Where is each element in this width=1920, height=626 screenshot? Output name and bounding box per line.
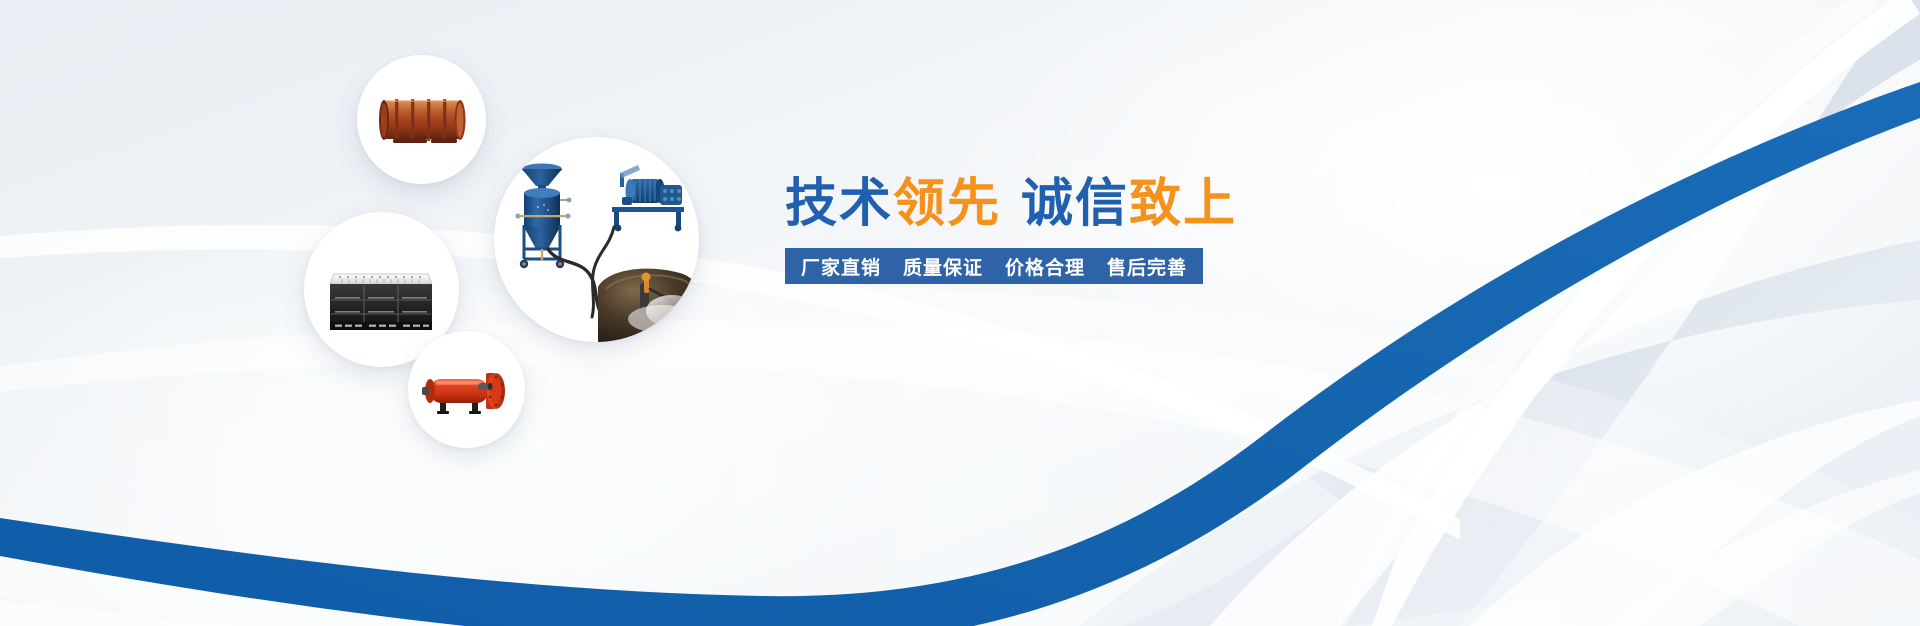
tube-bundle-icon [357, 55, 486, 184]
headline-segment-4: 致上 [1129, 175, 1237, 233]
banner-headline: 技术领先诚信致上 [785, 178, 1225, 230]
product-bubble-cleaning-unit[interactable] [494, 137, 699, 342]
shell-tube-cooler-icon [408, 331, 525, 448]
promo-item-fair-price: 价格合理 [1005, 253, 1085, 280]
promo-item-after-sales: 售后完善 [1107, 253, 1187, 280]
headline-segment-2: 领先 [893, 175, 1001, 233]
headline-segment-3: 诚信 [1021, 175, 1129, 233]
product-bubble-shell-tube-cooler[interactable] [408, 331, 525, 448]
product-bubble-tube-bundle[interactable] [357, 55, 486, 184]
banner-text-block: 技术领先诚信致上 厂家直销质量保证价格合理售后完善 [785, 178, 1225, 284]
background-waves [0, 0, 1920, 626]
blasting-tank-icon [494, 137, 699, 342]
promo-item-factory-direct: 厂家直销 [801, 253, 881, 280]
promo-feature-bar: 厂家直销质量保证价格合理售后完善 [785, 248, 1203, 284]
headline-segment-1: 技术 [785, 175, 893, 233]
promo-item-quality-guarantee: 质量保证 [903, 253, 983, 280]
hero-banner: 技术领先诚信致上 厂家直销质量保证价格合理售后完善 [0, 0, 1920, 626]
